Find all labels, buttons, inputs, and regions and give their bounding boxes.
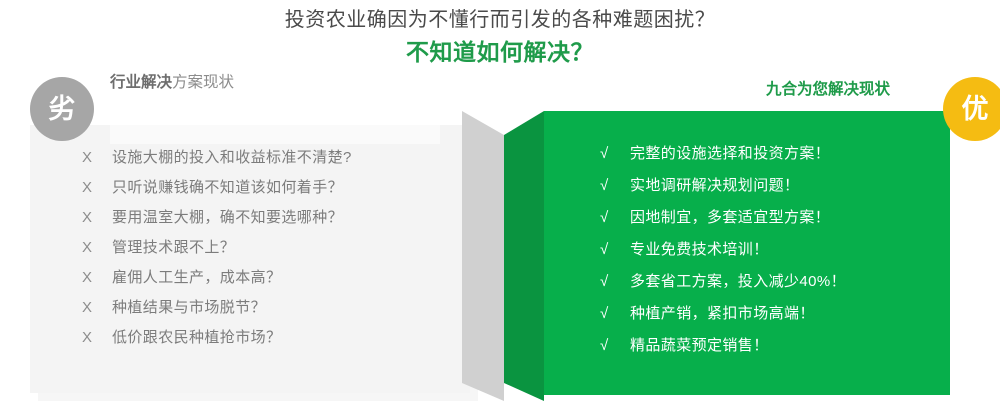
list-item: X 雇佣人工生产，成本高？: [82, 266, 452, 296]
check-icon: √: [600, 273, 630, 290]
list-item: √ 完整的设施选择和投资方案！: [600, 142, 950, 174]
headline-primary: 投资农业确因为不懂行而引发的各种难题困扰？: [0, 6, 1000, 34]
list-item: √ 多套省工方案，投入减少40%！: [600, 270, 950, 302]
list-item-label: 要用温室大棚，确不知要选哪种？: [112, 206, 343, 227]
badge-good: 优: [943, 77, 1000, 141]
list-item-label: 因地制宜，多套适宜型方案！: [630, 206, 830, 227]
cross-icon: X: [82, 179, 112, 196]
ribbon-fold-green: [504, 111, 544, 401]
list-item-label: 种植产销，紧扣市场高端！: [630, 302, 815, 323]
cross-icon: X: [82, 329, 112, 346]
ribbon-fold-grey: [462, 111, 504, 401]
cross-icon: X: [82, 269, 112, 286]
list-item-label: 种植结果与市场脱节？: [112, 296, 266, 317]
headline-secondary: 不知道如何解决？: [0, 36, 1000, 68]
list-item-label: 低价跟农民种植抢市场？: [112, 326, 281, 347]
problem-list: X 设施大棚的投入和收益标准不清楚? X 只听说赚钱确不知道该如何着手？ X 要…: [82, 146, 452, 356]
check-icon: √: [600, 241, 630, 258]
left-panel-highlight-band: [110, 125, 440, 144]
list-item: √ 精品蔬菜预定销售！: [600, 334, 950, 366]
list-item-label: 只听说赚钱确不知道该如何着手？: [112, 176, 343, 197]
badge-good-label: 优: [962, 96, 989, 123]
check-icon: √: [600, 209, 630, 226]
list-item: X 种植结果与市场脱节？: [82, 296, 452, 326]
infographic-stage: 投资农业确因为不懂行而引发的各种难题困扰？ 不知道如何解决？ 劣 优 行业解决方…: [0, 0, 1000, 416]
list-item-label: 精品蔬菜预定销售！: [630, 334, 769, 355]
list-item-label: 管理技术跟不上？: [112, 236, 235, 257]
list-item: √ 因地制宜，多套适宜型方案！: [600, 206, 950, 238]
left-panel-title-rest: 方案现状: [172, 74, 234, 91]
cross-icon: X: [82, 149, 112, 166]
cross-icon: X: [82, 239, 112, 256]
list-item: √ 种植产销，紧扣市场高端！: [600, 302, 950, 334]
left-panel-title-strong: 行业解决: [110, 74, 172, 91]
right-panel-title: 九合为您解决现状: [766, 80, 890, 100]
check-icon: √: [600, 145, 630, 162]
list-item-label: 设施大棚的投入和收益标准不清楚?: [112, 146, 352, 167]
cross-icon: X: [82, 209, 112, 226]
check-icon: √: [600, 337, 630, 354]
list-item-label: 实地调研解决规划问题！: [630, 174, 799, 195]
list-item: X 管理技术跟不上？: [82, 236, 452, 266]
list-item-label: 完整的设施选择和投资方案！: [630, 142, 830, 163]
list-item: √ 实地调研解决规划问题！: [600, 174, 950, 206]
headline-block: 投资农业确因为不懂行而引发的各种难题困扰？ 不知道如何解决？: [0, 6, 1000, 68]
check-icon: √: [600, 305, 630, 322]
list-item-label: 多套省工方案，投入减少40%！: [630, 270, 846, 291]
list-item-label: 专业免费技术培训！: [630, 238, 769, 259]
cross-icon: X: [82, 299, 112, 316]
left-panel-title: 行业解决方案现状: [110, 73, 234, 93]
badge-bad-label: 劣: [49, 96, 76, 123]
list-item: √ 专业免费技术培训！: [600, 238, 950, 270]
list-item: X 设施大棚的投入和收益标准不清楚?: [82, 146, 452, 176]
list-item: X 要用温室大棚，确不知要选哪种？: [82, 206, 452, 236]
list-item-label: 雇佣人工生产，成本高？: [112, 266, 281, 287]
badge-bad: 劣: [30, 77, 94, 141]
list-item: X 只听说赚钱确不知道该如何着手？: [82, 176, 452, 206]
list-item: X 低价跟农民种植抢市场？: [82, 326, 452, 356]
solution-list: √ 完整的设施选择和投资方案！ √ 实地调研解决规划问题！ √ 因地制宜，多套适…: [600, 142, 950, 366]
check-icon: √: [600, 177, 630, 194]
